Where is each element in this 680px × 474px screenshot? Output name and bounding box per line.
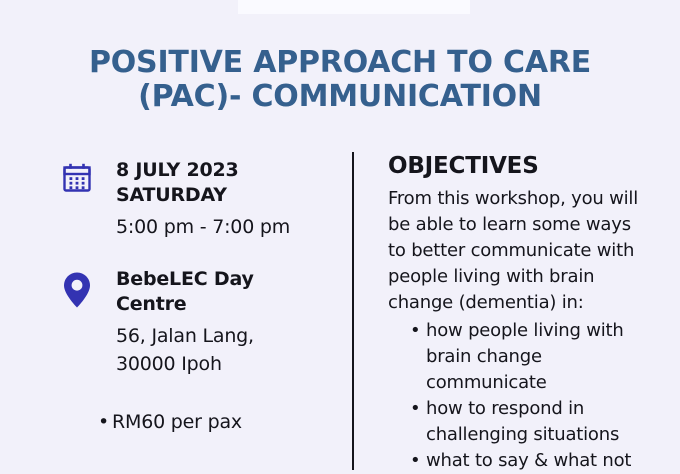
date-time-text: 8 JULY 2023 SATURDAY 5:00 pm - 7:00 pm: [116, 158, 340, 241]
list-item: what to say & what not: [410, 448, 654, 474]
location-pin-icon: [60, 267, 116, 314]
poster-columns: 8 JULY 2023 SATURDAY 5:00 pm - 7:00 pm B…: [0, 140, 680, 470]
venue-block: BebeLEC Day Centre 56, Jalan Lang, 30000…: [60, 267, 340, 378]
event-day: SATURDAY: [116, 183, 340, 208]
objectives-intro: From this workshop, you will be able to …: [388, 186, 654, 316]
event-time: 5:00 pm - 7:00 pm: [116, 213, 340, 241]
venue-address-line-2: 30000 Ipoh: [116, 350, 340, 378]
page-title-line-2: (PAC)- COMMUNICATION: [0, 80, 680, 114]
venue-address-line-1: 56, Jalan Lang,: [116, 322, 340, 350]
top-highlight-band: [238, 0, 470, 14]
page-title-line-1: POSITIVE APPROACH TO CARE: [89, 45, 591, 80]
venue-text: BebeLEC Day Centre 56, Jalan Lang, 30000…: [116, 267, 340, 378]
list-item: how people living with brain change comm…: [410, 318, 654, 396]
column-divider: [352, 152, 354, 470]
objectives-column: OBJECTIVES From this workshop, you will …: [388, 140, 654, 474]
page-title: POSITIVE APPROACH TO CARE (PAC)- COMMUNI…: [0, 46, 680, 114]
calendar-icon: [60, 158, 116, 201]
objectives-list: how people living with brain change comm…: [388, 318, 654, 474]
date-time-block: 8 JULY 2023 SATURDAY 5:00 pm - 7:00 pm: [60, 158, 340, 241]
event-date: 8 JULY 2023: [116, 158, 340, 183]
venue-name-line-2: Centre: [116, 292, 340, 317]
venue-name-line-1: BebeLEC Day: [116, 267, 340, 292]
objectives-heading: OBJECTIVES: [388, 152, 654, 180]
event-details-column: 8 JULY 2023 SATURDAY 5:00 pm - 7:00 pm B…: [60, 140, 340, 436]
list-item: RM60 per pax: [98, 408, 340, 436]
list-item: how to respond in challenging situations: [410, 396, 654, 448]
price-list: RM60 per pax: [60, 408, 340, 436]
